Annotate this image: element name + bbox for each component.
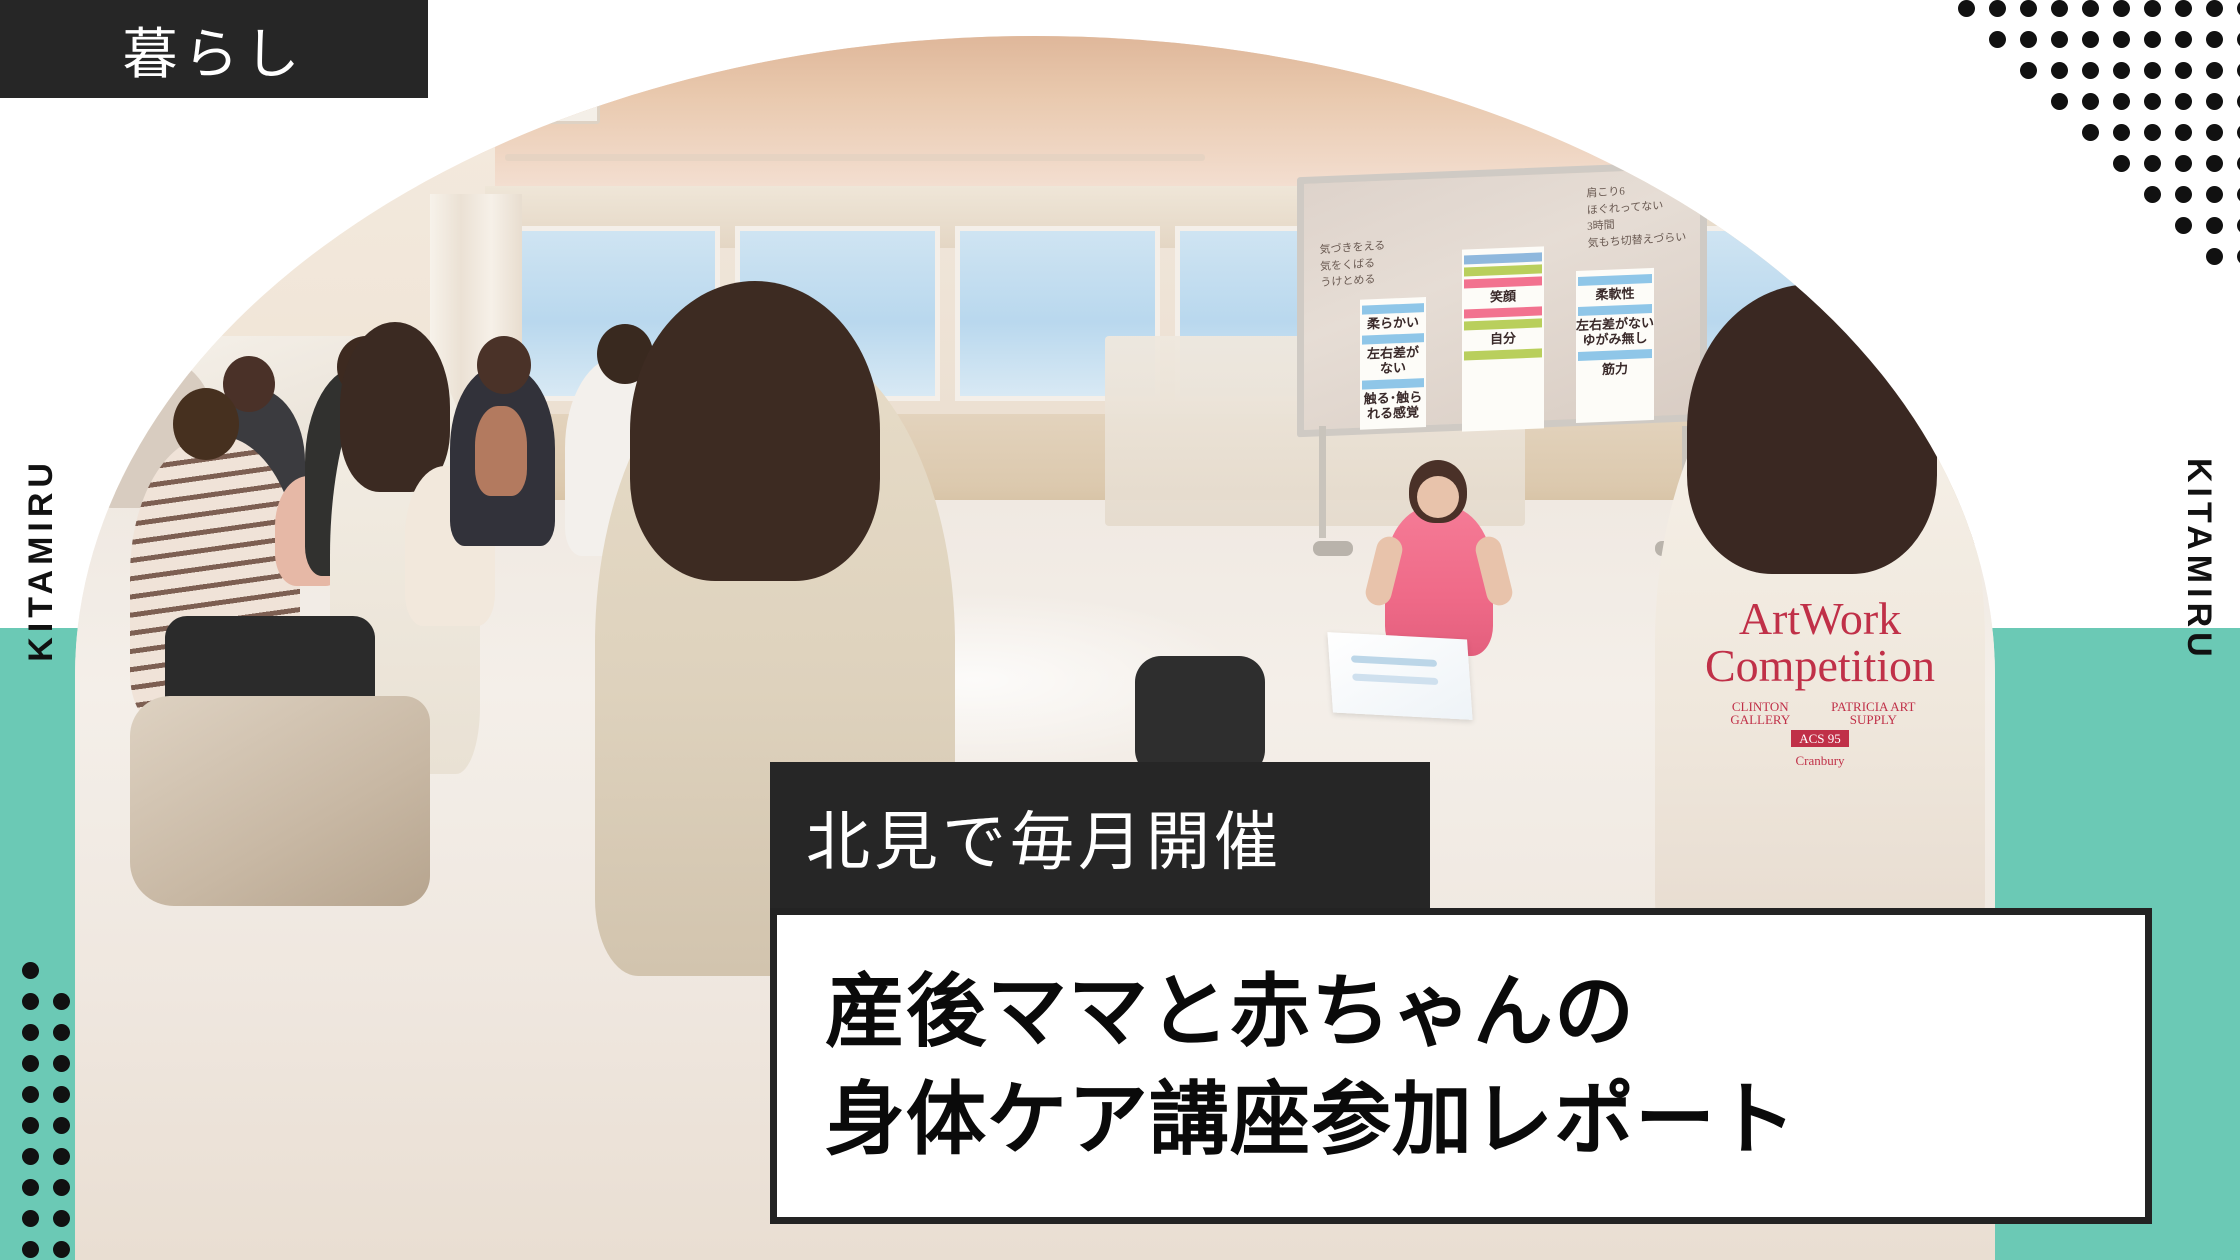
decor-dot [2237, 155, 2240, 172]
decor-dot [2206, 31, 2223, 48]
decor-dot [2237, 31, 2240, 48]
decor-dot [2206, 93, 2223, 110]
decor-dot [22, 1148, 39, 1165]
decor-dot [2237, 248, 2240, 265]
decor-dot [2051, 0, 2068, 17]
decor-dot [2175, 186, 2192, 203]
whiteboard: 気づきをえる気をくばるうけとめる 肩こり6ほぐれってない3時間気もち切替えづらい… [1297, 161, 1707, 437]
decor-dot [2051, 93, 2068, 110]
decor-dot [2020, 62, 2037, 79]
shirt-sponsor-2: PATRICIA ART SUPPLY [1814, 700, 1933, 727]
decor-dot [22, 993, 39, 1010]
decor-dot [2175, 0, 2192, 17]
decor-dot [1958, 0, 1975, 17]
subtitle-ribbon-label: 北見で毎月開催 [806, 791, 1282, 883]
decor-dot [2237, 186, 2240, 203]
decor-dot [2206, 248, 2223, 265]
decor-dot [2144, 186, 2161, 203]
poster-canvas: 気づきをえる気をくばるうけとめる 肩こり6ほぐれってない3時間気もち切替えづらい… [0, 0, 2240, 1260]
shirt-sponsor-4: Cranbury [1695, 754, 1945, 767]
decor-dot [22, 1179, 39, 1196]
title-line-1: 産後ママと赤ちゃんの [825, 958, 2145, 1066]
decor-dot [2113, 62, 2130, 79]
decor-dot [1989, 0, 2006, 17]
decor-dot [22, 1086, 39, 1103]
decor-dot [22, 1241, 39, 1258]
brand-label-left: KITAMIRU [22, 458, 61, 662]
decor-dot [2113, 155, 2130, 172]
decor-dot [2113, 124, 2130, 141]
decor-dot [2206, 62, 2223, 79]
decor-dot [53, 1241, 70, 1258]
whiteboard-poster-center: 笑顔 自分 [1462, 246, 1544, 431]
category-badge-label: 暮らし [122, 9, 305, 89]
decor-dot [2113, 93, 2130, 110]
foreground-baby-carrier [130, 696, 430, 906]
decor-dot [2082, 62, 2099, 79]
whiteboard-poster-left: 柔らかい左右差がない触る･触られる感覚 [1360, 297, 1426, 430]
decor-dot [53, 1179, 70, 1196]
foreground-backpack [1135, 656, 1265, 776]
decor-dot [2175, 62, 2192, 79]
decor-dot [53, 1055, 70, 1072]
brand-label-right: KITAMIRU [2179, 458, 2218, 662]
shirt-text-line1: ArtWork [1695, 596, 1945, 643]
participant-center-hair [630, 281, 880, 581]
decor-dot [53, 1086, 70, 1103]
decor-dot [2237, 0, 2240, 17]
decor-dot [2206, 186, 2223, 203]
participant-head [133, 336, 185, 392]
decor-dot [2206, 124, 2223, 141]
decor-dot [2175, 155, 2192, 172]
decor-dot [53, 1024, 70, 1041]
decor-dot [2237, 217, 2240, 234]
title-line-2: 身体ケア講座参加レポート [825, 1066, 2145, 1174]
participant-head [173, 388, 239, 460]
decor-dot [2113, 0, 2130, 17]
decor-dot [22, 1024, 39, 1041]
decor-dot [2175, 124, 2192, 141]
decor-dot [22, 1210, 39, 1227]
whiteboard-note-left: 気づきをえる気をくばるうけとめる [1319, 238, 1386, 292]
decor-dot [53, 1148, 70, 1165]
decor-dot [2144, 62, 2161, 79]
decor-dot [2237, 93, 2240, 110]
decor-dot [2206, 217, 2223, 234]
decor-dot [2144, 155, 2161, 172]
decor-dot [2051, 62, 2068, 79]
decor-dot [2206, 0, 2223, 17]
decor-dot [53, 993, 70, 1010]
decor-dot [2175, 31, 2192, 48]
participant-right-hair [1687, 284, 1937, 574]
whiteboard-stand [1313, 426, 1695, 556]
decor-dot [22, 962, 39, 979]
shirt-sponsor-3: ACS 95 [1791, 730, 1849, 747]
decor-dot [2113, 31, 2130, 48]
decor-dot [2144, 93, 2161, 110]
demo-chart-sheet [1327, 632, 1472, 720]
ceiling-trim [505, 154, 1205, 161]
subtitle-ribbon: 北見で毎月開催 [770, 762, 1430, 912]
decor-dot [53, 1117, 70, 1134]
shirt-graphic: ArtWork Competition CLINTON GALLERY PATR… [1695, 596, 1945, 767]
participant-hair [340, 322, 450, 492]
whiteboard-poster-right: 柔軟性左右差がないゆがみ無し筋力 [1576, 268, 1654, 423]
decor-dot [2144, 0, 2161, 17]
decor-dot [22, 1055, 39, 1072]
decor-dot [2144, 31, 2161, 48]
decor-dot [2237, 62, 2240, 79]
title-card: 産後ママと赤ちゃんの 身体ケア講座参加レポート [770, 908, 2152, 1224]
ceiling-vent-icon [415, 76, 600, 124]
participant-head [477, 336, 531, 394]
decor-dot [53, 1210, 70, 1227]
category-badge[interactable]: 暮らし [0, 0, 428, 98]
decor-dot [2082, 124, 2099, 141]
whiteboard-note-right: 肩こり6ほぐれってない3時間気もち切替えづらい [1586, 179, 1686, 251]
baby-figure [475, 406, 527, 496]
decor-dot [2082, 93, 2099, 110]
decor-dot [2175, 217, 2192, 234]
decor-dot [2082, 31, 2099, 48]
decor-dot [2051, 31, 2068, 48]
decor-dot [2237, 124, 2240, 141]
decor-dot [2082, 0, 2099, 17]
shirt-sponsor-1: CLINTON GALLERY [1707, 700, 1814, 727]
decor-dot [2206, 155, 2223, 172]
instructor-figure [1385, 506, 1493, 656]
decor-dot [22, 1117, 39, 1134]
decor-dot [2020, 0, 2037, 17]
shirt-text-line2: Competition [1695, 643, 1945, 690]
decor-dot [2020, 31, 2037, 48]
decor-dot [2175, 93, 2192, 110]
decor-dot [2144, 124, 2161, 141]
instructor-face [1417, 476, 1459, 518]
